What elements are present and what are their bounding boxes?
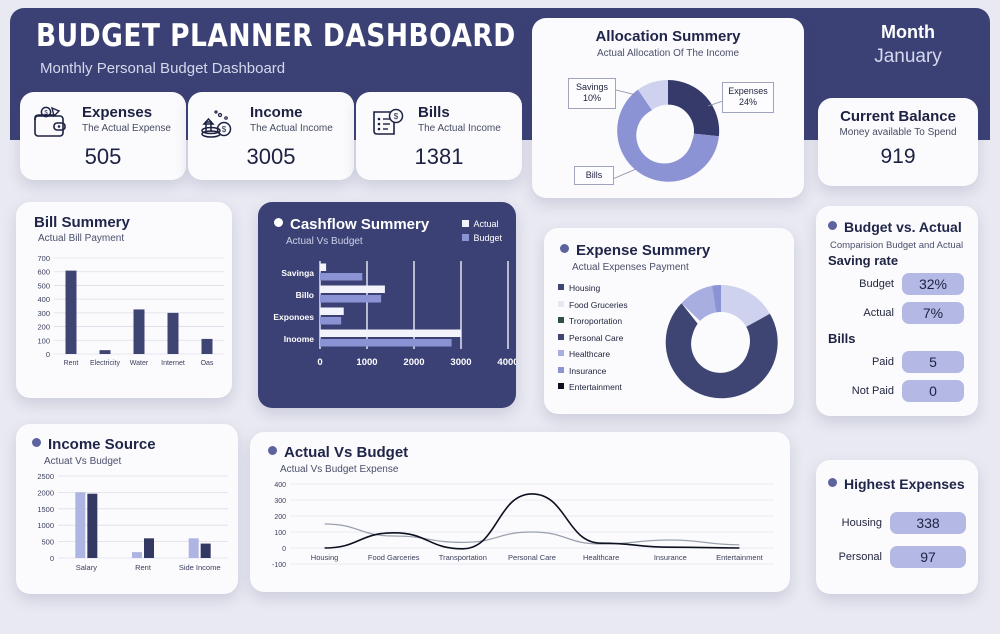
svg-text:Housing: Housing (311, 553, 339, 562)
expenses-pct: 24% (727, 97, 769, 108)
svg-text:Internet: Internet (161, 360, 185, 367)
bva-subtitle: Comparision Budget and Actual (830, 240, 978, 251)
highest-bullet-icon (828, 478, 837, 487)
svg-text:600: 600 (37, 268, 50, 277)
highest-label: Personal (839, 551, 882, 563)
highest-row-housing: Housing 338 (828, 512, 966, 534)
income-source-card: Income Source Actuat Vs Budget 050010001… (16, 424, 238, 594)
balance-value: 919 (818, 145, 978, 169)
svg-text:Healthcare: Healthcare (583, 553, 619, 562)
wallet-dollar-icon: $ (32, 106, 72, 145)
allocation-label-expenses: Expenses 24% (722, 82, 774, 113)
bill-summary-subtitle: Actual Bill Payment (38, 233, 232, 244)
expense-legend-item: Housing (558, 280, 628, 297)
expense-legend-item: Food Gruceries (558, 297, 628, 314)
legend-label: Housing (569, 283, 600, 293)
kpi-card-income[interactable]: $ Income The Actual Income 3005 (188, 92, 354, 180)
cashflow-legend: Actual Budget (462, 218, 502, 245)
legend-label: Entertainment (569, 382, 622, 392)
current-balance-card: Current Balance Money available To Spend… (818, 98, 978, 186)
savings-name: Savings (573, 82, 611, 93)
bill-summary-bar-chart: 0100200300400500600700 RentElectricityWa… (16, 250, 232, 390)
income-source-bar-chart: 05001000150020002500 SalaryRentSide Inco… (16, 470, 238, 590)
legend-label: Personal Care (569, 333, 623, 343)
expense-summary-subtitle: Actual Expenses Payment (572, 262, 794, 273)
bva-label: Paid (872, 356, 894, 368)
svg-text:300: 300 (274, 498, 286, 505)
svg-text:1000: 1000 (37, 521, 54, 530)
kpi-card-bills[interactable]: $ Bills The Actual Income 1381 (356, 92, 522, 180)
actual-vs-budget-line-chart: -1000100200300400 HousingFood GarceriesT… (250, 478, 790, 590)
svg-text:Savinga: Savinga (281, 268, 314, 278)
legend-swatch (558, 317, 564, 323)
svg-text:Exponoes: Exponoes (273, 312, 314, 322)
expense-summary-card: Expense Summery Actual Expenses Payment … (544, 228, 794, 414)
legend-item-budget: Budget (462, 232, 502, 246)
legend-swatch (558, 383, 564, 389)
highest-value: 97 (890, 546, 966, 568)
month-selector[interactable]: Month January (838, 22, 978, 68)
bva-value: 7% (902, 302, 964, 324)
legend-label: Healthcare (569, 349, 610, 359)
legend-item-actual: Actual (462, 218, 502, 232)
legend-label: Food Gruceries (569, 300, 628, 310)
actual-vs-budget-card: Actual Vs Budget Actual Vs Budget Expens… (250, 432, 790, 592)
month-value: January (838, 46, 978, 68)
income-source-title: Income Source (48, 436, 156, 453)
bva-row-not-paid: Not Paid 0 (830, 380, 964, 402)
svg-text:Personal Care: Personal Care (508, 553, 556, 562)
bva-value: 0 (902, 380, 964, 402)
savings-pct: 10% (573, 93, 611, 104)
svg-text:200: 200 (274, 514, 286, 521)
kpi-name: Income (250, 104, 303, 121)
bva-label: Budget (859, 278, 894, 290)
expense-summary-donut-chart (656, 276, 786, 406)
svg-text:400: 400 (274, 482, 286, 489)
kpi-value: 3005 (188, 144, 354, 170)
svg-text:Billo: Billo (296, 290, 314, 300)
expense-summary-title: Expense Summery (576, 242, 710, 259)
cashflow-title: Cashflow Summery (290, 216, 429, 233)
balance-desc: Money available To Spend (818, 127, 978, 138)
svg-text:2000: 2000 (37, 488, 54, 497)
svg-text:100: 100 (274, 530, 286, 537)
expense-legend-item: Insurance (558, 363, 628, 380)
svg-text:Food Garceries: Food Garceries (368, 553, 420, 562)
svg-text:2000: 2000 (403, 357, 424, 368)
svg-text:Oas: Oas (201, 360, 214, 367)
svg-text:700: 700 (37, 254, 50, 263)
page-subtitle: Monthly Personal Budget Dashboard (40, 60, 285, 77)
allocation-subtitle: Actual Allocation Of The Income (532, 48, 804, 59)
legend-swatch (558, 350, 564, 356)
bva-group-saving-rate: Saving rate (828, 253, 978, 268)
svg-text:3000: 3000 (450, 357, 471, 368)
svg-text:0: 0 (50, 554, 54, 563)
svg-text:Salary: Salary (76, 563, 98, 572)
bva-bullet-icon (828, 221, 837, 230)
legend-label: Troroportation (569, 316, 622, 326)
legend-swatch (558, 301, 564, 307)
expenses-name: Expenses (727, 86, 769, 97)
month-label: Month (838, 22, 978, 43)
bill-receipt-dollar-icon: $ (368, 106, 408, 145)
highest-expenses-card: Highest Expenses Housing 338 Personal 97 (816, 460, 978, 594)
bva-value: 32% (902, 273, 964, 295)
legend-swatch (558, 334, 564, 340)
page-title: BUDGET PLANNER DASHBOARD (36, 18, 516, 54)
svg-text:Side Income: Side Income (179, 563, 221, 572)
bva-row-paid: Paid 5 (830, 351, 964, 373)
cashflow-bullet-icon (274, 218, 283, 227)
bva-value: 5 (902, 351, 964, 373)
expense-summary-legend: HousingFood GruceriesTroroportationPerso… (558, 280, 628, 396)
budget-vs-actual-card: Budget vs. Actual Comparision Budget and… (816, 206, 978, 416)
svg-text:4000: 4000 (497, 357, 516, 368)
allocation-title: Allocation Summery (532, 28, 804, 45)
avb-subtitle: Actual Vs Budget Expense (280, 464, 790, 475)
svg-text:Water: Water (130, 360, 149, 367)
kpi-desc: The Actual Income (250, 123, 333, 134)
kpi-name: Bills (418, 104, 450, 121)
highest-expenses-title: Highest Expenses (844, 476, 965, 492)
avb-bullet-icon (268, 446, 277, 455)
expense-legend-item: Troroportation (558, 313, 628, 330)
expense-legend-item: Healthcare (558, 346, 628, 363)
svg-text:Insurance: Insurance (654, 553, 687, 562)
income-bullet-icon (32, 438, 41, 447)
kpi-desc: The Actual Expense (82, 123, 171, 134)
highest-value: 338 (890, 512, 966, 534)
svg-text:Rent: Rent (64, 360, 79, 367)
kpi-desc: The Actual Income (418, 123, 501, 134)
bva-group-bills: Bills (828, 331, 978, 346)
kpi-value: 505 (20, 144, 186, 170)
expense-bullet-icon (560, 244, 569, 253)
svg-text:500: 500 (41, 538, 54, 547)
kpi-value: 1381 (356, 144, 522, 170)
bva-row-actual: Actual 7% (830, 302, 964, 324)
cashflow-bar-chart: SavingaBilloExponoesInoome 0100020003000… (258, 257, 516, 402)
svg-text:0: 0 (282, 546, 286, 553)
highest-label: Housing (842, 517, 882, 529)
svg-text:2500: 2500 (37, 472, 54, 481)
allocation-label-savings: Savings 10% (568, 78, 616, 109)
income-arrow-coins-icon: $ (200, 106, 240, 145)
svg-text:Electricity: Electricity (90, 360, 120, 367)
svg-text:300: 300 (37, 309, 50, 318)
svg-text:100: 100 (37, 336, 50, 345)
svg-text:Inoome: Inoome (284, 334, 314, 344)
kpi-card-expenses[interactable]: $ Expenses The Actual Expense 505 (20, 92, 186, 180)
bva-row-budget: Budget 32% (830, 273, 964, 295)
bva-label: Actual (863, 307, 894, 319)
legend-label: Insurance (569, 366, 606, 376)
kpi-name: Expenses (82, 104, 152, 121)
avb-title: Actual Vs Budget (284, 444, 408, 461)
svg-text:500: 500 (37, 281, 50, 290)
svg-text:400: 400 (37, 295, 50, 304)
svg-text:$: $ (394, 112, 399, 121)
bill-summary-card: Bill Summery Actual Bill Payment 0100200… (16, 202, 232, 398)
legend-swatch (558, 284, 564, 290)
svg-text:$: $ (222, 125, 227, 134)
highest-row-personal: Personal 97 (828, 546, 966, 568)
income-source-subtitle: Actuat Vs Budget (44, 456, 238, 467)
bill-summary-title: Bill Summery (34, 214, 232, 231)
svg-text:1000: 1000 (356, 357, 377, 368)
svg-text:0: 0 (317, 357, 322, 368)
svg-text:Transportation: Transportation (439, 553, 487, 562)
balance-title: Current Balance (818, 108, 978, 125)
svg-text:1500: 1500 (37, 505, 54, 514)
expense-legend-item: Entertainment (558, 379, 628, 396)
cashflow-summary-card: Cashflow Summery Actual Vs Budget Actual… (258, 202, 516, 408)
svg-text:200: 200 (37, 323, 50, 332)
bva-title: Budget vs. Actual (844, 219, 962, 235)
bva-label: Not Paid (852, 385, 894, 397)
dashboard-root: BUDGET PLANNER DASHBOARD Monthly Persona… (0, 0, 1000, 634)
allocation-label-bills: Bills (574, 166, 614, 185)
svg-text:-100: -100 (272, 562, 286, 569)
svg-text:Rent: Rent (135, 563, 152, 572)
svg-text:Entertainment: Entertainment (716, 553, 764, 562)
legend-swatch (558, 367, 564, 373)
allocation-summary-card: Allocation Summery Actual Allocation Of … (532, 18, 804, 198)
expense-legend-item: Personal Care (558, 330, 628, 347)
svg-text:0: 0 (46, 350, 50, 359)
